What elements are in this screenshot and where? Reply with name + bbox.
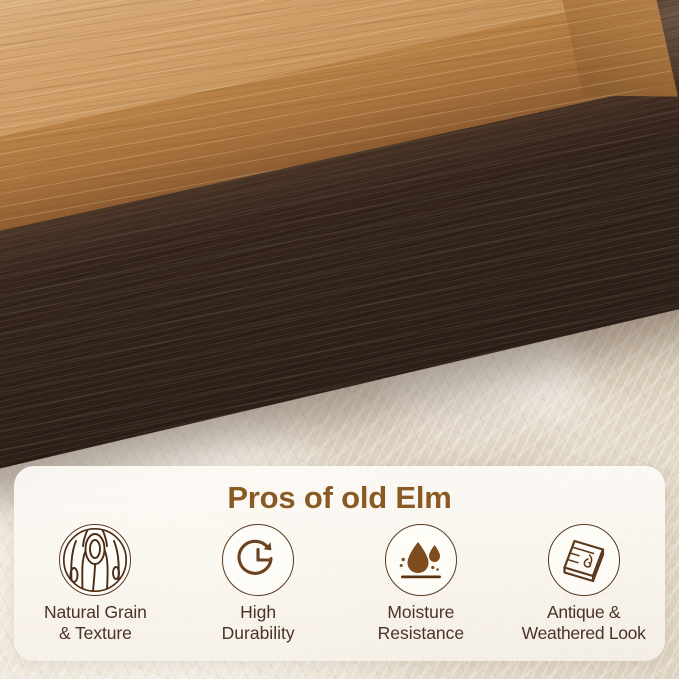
feature-label-line1: Antique & [547, 602, 620, 622]
feature-antique-weathered: Antique &Weathered Look [502, 524, 665, 643]
water-droplet-icon [385, 524, 457, 596]
feature-label-natural-grain: Natural Grain& Texture [44, 602, 147, 643]
feature-high-durability: HighDurability [177, 524, 340, 643]
feature-moisture-resistance: MoistureResistance [340, 524, 503, 643]
feature-label-line1: Natural Grain [44, 602, 147, 622]
card-title: Pros of old Elm [14, 466, 665, 516]
feature-label-line2: Weathered Look [522, 623, 646, 643]
feature-list: Natural Grain& Texture HighDurability [14, 524, 665, 643]
wood-plank-icon [548, 524, 620, 596]
clock-arrow-icon [222, 524, 294, 596]
feature-label-line2: Resistance [378, 623, 465, 643]
feature-label-line1: Moisture [387, 602, 454, 622]
feature-label-moisture-resistance: MoistureResistance [378, 602, 465, 643]
feature-label-line2: & Texture [59, 623, 132, 643]
feature-natural-grain: Natural Grain& Texture [14, 524, 177, 643]
pros-infographic-card: Pros of old Elm [14, 466, 665, 661]
product-infographic-image: Pros of old Elm [0, 0, 679, 679]
feature-label-line1: High [240, 602, 276, 622]
wood-grain-icon [59, 524, 131, 596]
feature-label-high-durability: HighDurability [222, 602, 295, 643]
feature-label-line2: Durability [222, 623, 295, 643]
feature-label-antique-weathered: Antique &Weathered Look [522, 602, 646, 643]
